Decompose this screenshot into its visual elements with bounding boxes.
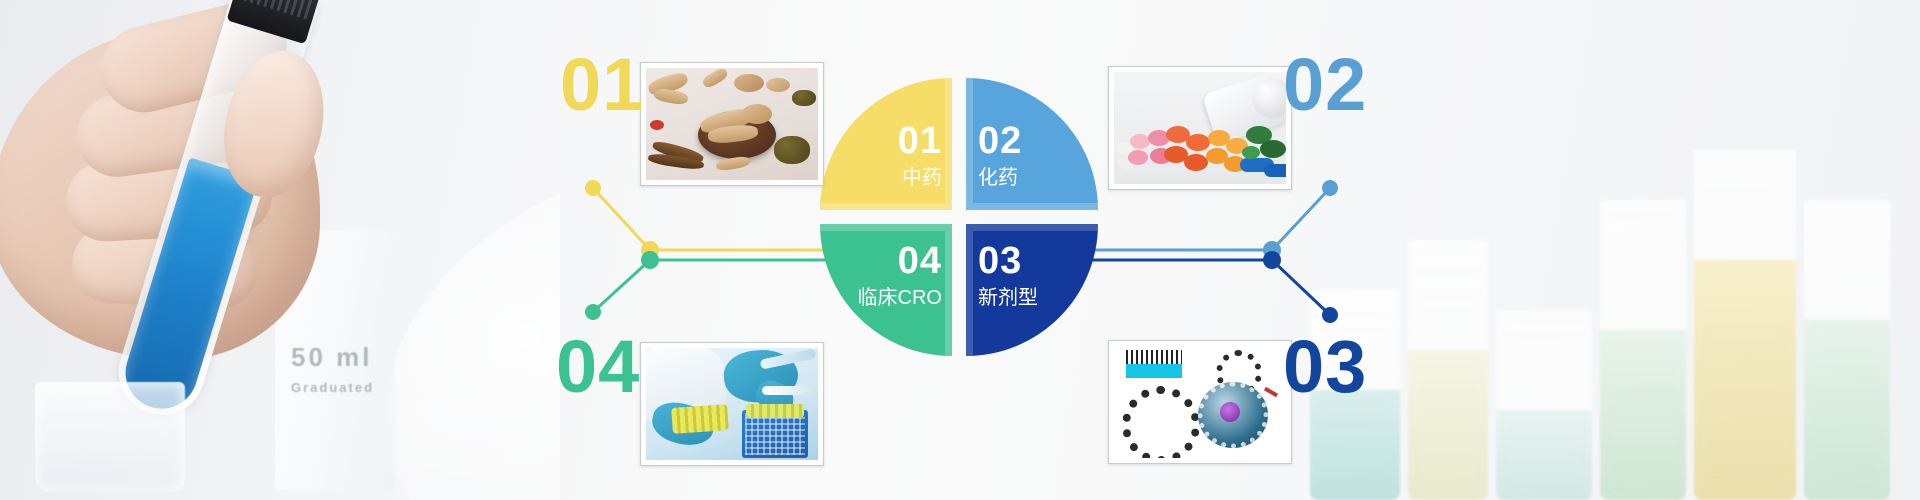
photo-card-01[interactable] <box>640 62 824 186</box>
segment-number-02: 02 <box>1283 48 1367 122</box>
glass-tube <box>1408 240 1488 500</box>
pie-wedge-04-number: 04 <box>858 242 942 280</box>
glass-tube <box>1600 200 1686 500</box>
background-left-photo: 50 ml Graduated <box>0 0 560 500</box>
glass-tube <box>1496 310 1592 500</box>
chinese-herbal-medicine-photo <box>646 68 818 180</box>
pie-wedge-01-number: 01 <box>898 122 942 160</box>
connector-dot-04-outer <box>585 304 601 320</box>
colored-pills-photo <box>1114 72 1286 184</box>
connector-dot-04-inner <box>641 251 659 269</box>
pie-wedge-01-text: 01 中药 <box>898 122 942 188</box>
pie-wedge-03-text: 03 新剂型 <box>978 242 1038 308</box>
pie-wedge-02[interactable]: 02 化药 <box>966 78 1098 210</box>
pie-wedge-02-text: 02 化药 <box>978 122 1022 188</box>
cylinder-volume-mark: 50 ml <box>291 342 373 373</box>
pie-wedge-04-text: 04 临床CRO <box>858 242 942 308</box>
hand-holding-test-tube: 50 ml Graduated <box>0 0 500 470</box>
segment-number-04: 04 <box>556 330 640 404</box>
pie-wedge-01-label: 中药 <box>898 168 942 188</box>
pie-wedge-01[interactable]: 01 中药 <box>820 78 952 210</box>
segment-pie-chart: 01 中药 02 化药 03 新剂型 04 临床CRO <box>820 78 1098 356</box>
photo-card-02[interactable] <box>1108 66 1292 190</box>
banner-root: 50 ml Graduated <box>0 0 1920 500</box>
clinical-lab-photo <box>646 348 818 460</box>
pie-wedge-04-label: 临床CRO <box>858 288 942 308</box>
connector-dot-01-inner <box>641 241 659 259</box>
connector-dot-03-inner <box>1263 251 1281 269</box>
pie-wedge-02-number: 02 <box>978 122 1022 160</box>
pie-wedge-03-number: 03 <box>978 242 1038 280</box>
beaker-shape <box>35 382 185 492</box>
pie-wedge-04[interactable]: 04 临床CRO <box>820 224 952 356</box>
glass-tube <box>1694 150 1796 500</box>
segment-number-01: 01 <box>560 48 644 122</box>
pie-wedge-03-label: 新剂型 <box>978 288 1038 308</box>
photo-card-03[interactable] <box>1108 340 1292 464</box>
pie-wedge-03[interactable]: 03 新剂型 <box>966 224 1098 356</box>
photo-card-04[interactable] <box>640 342 824 466</box>
glass-tube <box>1804 200 1890 500</box>
connector-dot-02-inner <box>1263 241 1281 259</box>
segment-number-03: 03 <box>1283 330 1367 404</box>
liposome-diagram-photo <box>1114 346 1286 458</box>
background-right-glassware <box>1300 0 1920 500</box>
cylinder-brand-mark: Graduated <box>291 380 374 395</box>
pie-wedge-02-label: 化药 <box>978 168 1022 188</box>
connector-dot-01-outer <box>585 180 601 196</box>
